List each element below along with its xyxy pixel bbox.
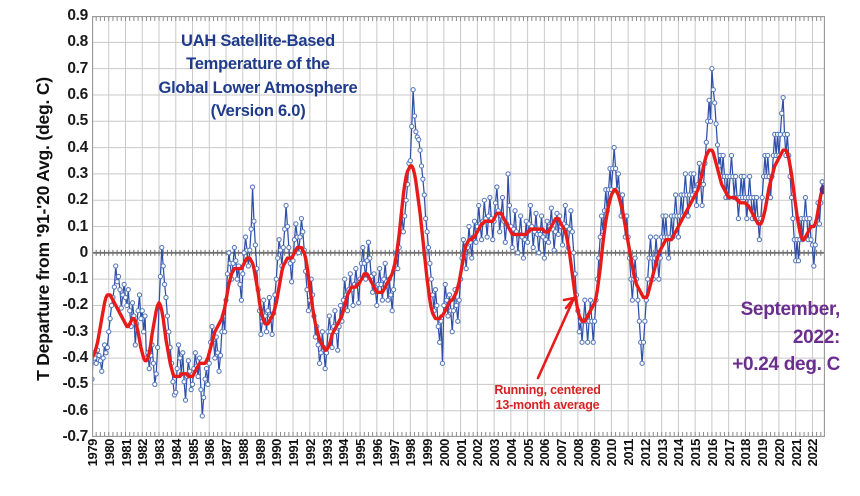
- x-tick-label: 2021: [789, 439, 804, 466]
- x-tick-label: 1992: [303, 439, 318, 466]
- x-tick-label: 2011: [621, 439, 636, 466]
- running-average-annotation: Running, centered13-month average: [455, 383, 640, 413]
- chart-title-line: Global Lower Atmosphere: [108, 77, 408, 100]
- x-tick-label: 1979: [85, 439, 100, 466]
- x-tick-label: 1988: [236, 439, 251, 466]
- september-2022-line: September,: [672, 296, 840, 324]
- september-2022-line: +0.24 deg. C: [672, 351, 840, 379]
- y-axis-tick-labels: 0.90.80.70.60.50.40.30.20.10-0.1-0.2-0.3…: [32, 0, 88, 496]
- x-tick-label: 1983: [152, 439, 167, 466]
- x-tick-label: 2003: [487, 439, 502, 466]
- x-tick-label: 2002: [470, 439, 485, 466]
- y-tick-label: 0.6: [36, 86, 88, 104]
- chart-title-line: Temperature of the: [108, 53, 408, 76]
- x-tick-label: 2013: [655, 439, 670, 466]
- x-tick-label: 2022: [805, 439, 820, 466]
- x-tick-label: 1995: [353, 439, 368, 466]
- x-tick-label: 2010: [604, 439, 619, 466]
- x-tick-label: 1994: [336, 439, 351, 466]
- running-average-line: Running, centered: [455, 383, 640, 398]
- x-tick-label: 2014: [671, 439, 686, 466]
- x-tick-label: 2005: [521, 439, 536, 466]
- y-tick-label: 0.2: [36, 191, 88, 209]
- chart-title-line: UAH Satellite-Based: [108, 30, 408, 53]
- y-tick-label: 0.8: [36, 33, 88, 51]
- annotation-leader-line: [538, 298, 574, 378]
- x-tick-label: 1986: [202, 439, 217, 466]
- x-tick-label: 2007: [554, 439, 569, 466]
- y-tick-label: -0.3: [36, 323, 88, 341]
- chart-title-line: (Version 6.0): [108, 100, 408, 123]
- x-tick-label: 1997: [387, 439, 402, 466]
- y-tick-label: 0: [36, 244, 88, 262]
- x-tick-label: 2008: [571, 439, 586, 466]
- x-tick-label: 1998: [403, 439, 418, 466]
- x-tick-label: 1982: [135, 439, 150, 466]
- x-tick-label: 1989: [253, 439, 268, 466]
- september-2022-annotation: September,2022:+0.24 deg. C: [672, 296, 840, 379]
- x-tick-label: 1985: [186, 439, 201, 466]
- x-tick-label: 1993: [320, 439, 335, 466]
- y-tick-label: 0.4: [36, 139, 88, 157]
- x-tick-label: 2020: [772, 439, 787, 466]
- x-tick-label: 2012: [638, 439, 653, 466]
- y-tick-label: -0.4: [36, 349, 88, 367]
- x-tick-label: 2006: [537, 439, 552, 466]
- x-tick-label: 1991: [286, 439, 301, 466]
- september-2022-line: 2022:: [672, 324, 840, 352]
- y-tick-label: -0.7: [36, 428, 88, 446]
- x-tick-label: 2019: [755, 439, 770, 466]
- y-tick-label: 0.7: [36, 60, 88, 78]
- y-tick-label: -0.2: [36, 296, 88, 314]
- x-tick-label: 2015: [688, 439, 703, 466]
- x-tick-label: 2000: [437, 439, 452, 466]
- y-tick-label: 0.9: [36, 7, 88, 25]
- x-tick-label: 1990: [269, 439, 284, 466]
- x-tick-label: 2016: [705, 439, 720, 466]
- x-tick-label: 2009: [588, 439, 603, 466]
- y-tick-label: -0.1: [36, 270, 88, 288]
- y-tick-label: -0.6: [36, 402, 88, 420]
- x-tick-label: 2017: [722, 439, 737, 466]
- chart-title: UAH Satellite-BasedTemperature of theGlo…: [108, 30, 408, 124]
- x-tick-label: 2018: [738, 439, 753, 466]
- x-axis-tick-labels: 1979198019811982198319841985198619871988…: [92, 437, 825, 496]
- running-average-line: 13-month average: [455, 398, 640, 413]
- uah-temperature-chart: T Departure from '91-'20 Avg. (deg. C) 0…: [0, 0, 860, 496]
- x-tick-label: 1996: [370, 439, 385, 466]
- y-tick-label: 0.1: [36, 218, 88, 236]
- x-tick-label: 2001: [454, 439, 469, 466]
- x-tick-label: 1984: [169, 439, 184, 466]
- x-tick-label: 1980: [102, 439, 117, 466]
- x-tick-label: 2004: [504, 439, 519, 466]
- y-tick-label: 0.3: [36, 165, 88, 183]
- x-tick-label: 1999: [420, 439, 435, 466]
- y-tick-label: -0.5: [36, 375, 88, 393]
- x-tick-label: 1981: [119, 439, 134, 466]
- y-tick-label: 0.5: [36, 112, 88, 130]
- x-tick-label: 1987: [219, 439, 234, 466]
